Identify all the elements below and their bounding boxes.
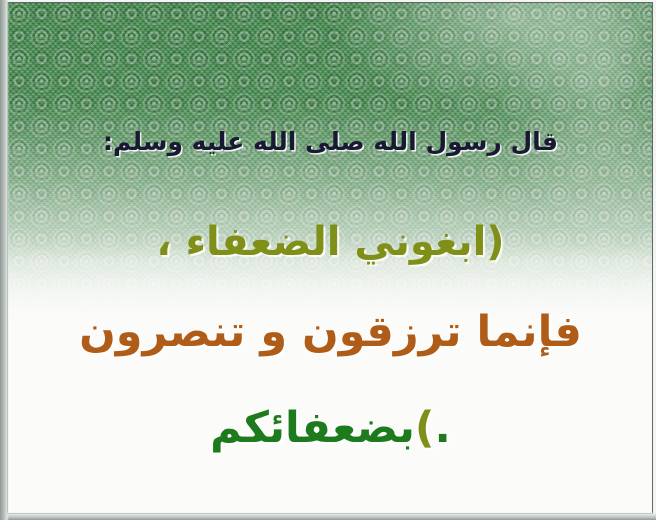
quote-end-period: .	[435, 403, 451, 453]
text-layer: قال رسول الله صلى الله عليه وسلم: (ابغون…	[8, 3, 653, 514]
quote-close-paren: )	[415, 403, 435, 453]
hadith-slide: قال رسول الله صلى الله عليه وسلم: (ابغون…	[0, 0, 656, 520]
slide-canvas: قال رسول الله صلى الله عليه وسلم: (ابغون…	[8, 3, 653, 514]
quote-line-3: .)بضعفائكم	[8, 399, 653, 457]
quote-line-1: (ابغوني الضعفاء ،	[8, 215, 653, 269]
hadith-attribution-line: قال رسول الله صلى الله عليه وسلم:	[8, 125, 653, 159]
quote-line-2: فإنما ترزقون و تنصرون	[8, 303, 653, 361]
quote-line-3-body: بضعفائكم	[210, 403, 415, 453]
